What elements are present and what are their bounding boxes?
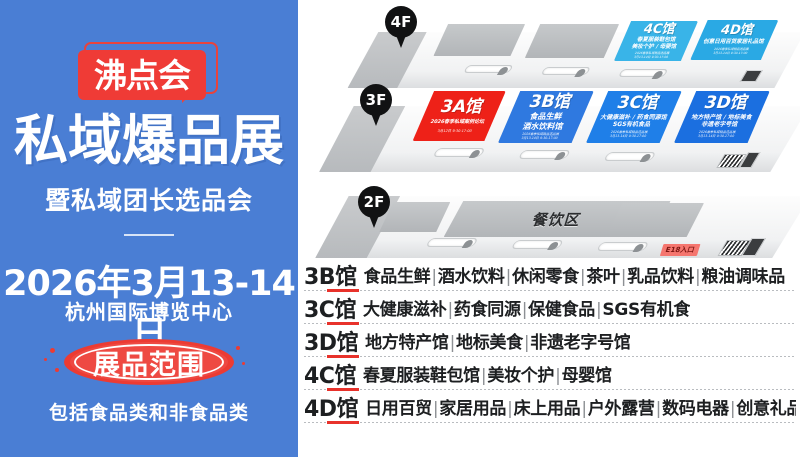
floor-3f-escalator-2	[518, 150, 571, 159]
hall-list-items: 食品生鲜|酒水饮料|休闲零食|茶叶|乳品饮料|粮油调味品	[364, 262, 785, 287]
hall-list-row[interactable]: 3D馆 地方特产馆|地标美食|非遗老字号馆	[304, 324, 796, 357]
speck-icon	[50, 348, 55, 353]
item-separator: |	[505, 267, 512, 287]
scope-badge: 展品范围	[64, 338, 234, 388]
hall-3d-code: 3D馆	[702, 95, 750, 113]
hall-list-item: 酒水饮料	[438, 267, 505, 287]
hall-4c-meta2: 3月13-14日 9:30-17:00	[633, 56, 668, 60]
entrance-badge: E18入口	[660, 244, 700, 256]
hall-3c-sub2: SGS有机食品	[612, 122, 652, 129]
hall-list-item: 母婴馆	[562, 366, 612, 386]
hall-list-item: 乳品饮料	[627, 267, 694, 287]
hall-list-item: 休闲零食	[512, 267, 579, 287]
hall-list-item: 粮油调味品	[701, 267, 785, 287]
hall-list-item: 户外露营	[588, 399, 655, 419]
hall-3c-meta2: 3月13-14日 9:30-17:00	[609, 135, 646, 139]
hall-list-items: 地方特产馆|地标美食|非遗老字号馆	[365, 328, 630, 353]
speck-icon	[242, 362, 245, 365]
dining-area-label: 餐饮区	[530, 209, 584, 230]
hall-list-item: 床上用品	[514, 399, 581, 419]
item-separator: |	[446, 300, 453, 320]
row-accent-mark	[327, 421, 359, 424]
speck-icon	[44, 358, 47, 361]
hall-list-items: 春夏服装鞋包馆|美妆个护|母婴馆	[363, 361, 612, 386]
hall-list-item: 食品生鲜	[364, 267, 431, 287]
event-venue: 杭州国际博览中心	[0, 296, 298, 325]
hall-list-items: 日用百贸|家居用品|床上用品|户外露营|数码电器|创意礼品	[365, 394, 796, 419]
floor-marker-3f-label: 3F	[360, 84, 392, 116]
right-content-panel: 4F 4C馆 春夏服装鞋包馆 美妆个护 / 母婴馆 2026春季私域精品选品展 …	[298, 0, 800, 457]
hall-list-items: 大健康滋补|药食同源|保健食品|SGS有机食	[363, 295, 690, 320]
title-divider	[124, 234, 174, 236]
hall-list-item: 家居用品	[439, 399, 506, 419]
page-subtitle: 暨私域团长选品会	[0, 181, 298, 217]
hall-list-row[interactable]: 4D馆 日用百贸|家居用品|床上用品|户外露营|数码电器|创意礼品	[304, 390, 796, 423]
floor-marker-3f: 3F	[360, 84, 392, 126]
floor-3f-escalator-1	[432, 148, 485, 157]
logo-badge: 沸点会	[78, 50, 206, 100]
hall-3b-meta2: 3月13-14日 9:30-17:00	[521, 137, 558, 141]
hall-list-row[interactable]: 3C馆 大健康滋补|药食同源|保健食品|SGS有机食	[304, 291, 796, 324]
speck-icon	[55, 368, 59, 372]
hall-list-row[interactable]: 3B馆 食品生鲜|酒水饮料|休闲零食|茶叶|乳品饮料|粮油调味品	[304, 258, 796, 291]
hall-list-code: 3C馆	[304, 292, 363, 324]
floor-4f-escalator-2	[540, 67, 591, 75]
hall-3d-sub2: 非遗老字号馆	[700, 122, 738, 129]
hall-list-item: 春夏服装鞋包馆	[363, 366, 480, 386]
hall-4d-meta2: 3月13-14日 9:30-17:00	[712, 52, 747, 56]
floor-3f-escalator-3	[603, 152, 656, 161]
hall-list-item: 地标美食	[456, 333, 523, 353]
hall-list-code: 3D馆	[304, 325, 365, 357]
hall-list-item: 日用百贸	[365, 399, 432, 419]
speck-icon	[236, 346, 240, 350]
hall-list-code: 4D馆	[304, 391, 365, 423]
hall-list-item: 美妆个护	[487, 366, 554, 386]
item-separator: |	[506, 399, 513, 419]
hall-3a-code: 3A馆	[438, 99, 485, 117]
floor-4f-block-a	[433, 24, 525, 56]
hall-list-code: 3B馆	[304, 259, 364, 291]
hall-3a-sub1: 2026春季私域案例论坛	[429, 120, 485, 126]
floor-marker-4f-label: 4F	[385, 6, 417, 38]
hall-3b-code: 3B馆	[527, 94, 574, 112]
hall-category-list: 3B馆 食品生鲜|酒水饮料|休闲零食|茶叶|乳品饮料|粮油调味品 3C馆 大健康…	[304, 258, 796, 423]
floor-2f-escalator-2	[511, 240, 564, 249]
page-title: 私域爆品展	[0, 114, 298, 168]
hall-list-item: 大健康滋补	[363, 300, 447, 320]
logo-text: 沸点会	[94, 59, 190, 92]
hall-4c-sub2: 美妆个护 / 母婴馆	[631, 44, 677, 50]
floor-2f-escalator-3	[596, 242, 649, 251]
hall-3c-code: 3C馆	[615, 95, 662, 113]
floor-marker-2f-label: 2F	[358, 186, 390, 218]
brand-logo: 沸点会	[78, 48, 218, 104]
hall-list-item: 茶叶	[586, 267, 619, 287]
hall-list-item: 数码电器	[662, 399, 729, 419]
hall-list-item: 创意礼品	[736, 399, 796, 419]
scope-note: 包括食品类和非食品类	[0, 398, 298, 425]
floor-marker-2f: 2F	[358, 186, 390, 228]
hall-list-item: 药食同源	[454, 300, 521, 320]
poster-root: 沸点会 私域爆品展 暨私域团长选品会 2026年3月13-14日 杭州国际博览中…	[0, 0, 800, 457]
hall-list-code: 4C馆	[304, 358, 363, 390]
hall-list-item: 非遗老字号馆	[530, 333, 630, 353]
hall-3b-sub2: 酒水饮料馆	[522, 122, 565, 131]
hall-list-item: SGS有机食	[602, 300, 690, 320]
floorplan-diagram: 4F 4C馆 春夏服装鞋包馆 美妆个护 / 母婴馆 2026春季私域精品选品展 …	[298, 0, 800, 262]
hall-list-item: 保健食品	[528, 300, 595, 320]
item-separator: |	[449, 333, 456, 353]
hall-list-item: 地方特产馆	[365, 333, 449, 353]
item-separator: |	[430, 267, 437, 287]
hall-3a-meta1: 3月12日 9:30-17:00	[437, 129, 472, 133]
floor-marker-4f: 4F	[385, 6, 417, 48]
item-separator: |	[655, 399, 662, 419]
row-divider	[304, 421, 796, 423]
floor-4f-escalator-1	[463, 65, 514, 73]
item-separator: |	[554, 366, 561, 386]
hall-4d-code: 4D馆	[718, 24, 755, 38]
hall-3d-meta2: 3月13-14日 9:30-17:00	[697, 135, 734, 139]
floor-2f-escalator-1	[425, 238, 478, 247]
floor-4f-escalator-3	[618, 69, 669, 77]
hall-list-row[interactable]: 4C馆 春夏服装鞋包馆|美妆个护|母婴馆	[304, 357, 796, 390]
left-info-panel: 沸点会 私域爆品展 暨私域团长选品会 2026年3月13-14日 杭州国际博览中…	[0, 0, 298, 457]
hall-4d-sub1: 创意日用百货家居礼品馆	[702, 39, 764, 45]
hall-4c-code: 4C馆	[642, 23, 678, 37]
floor-4f-block-b	[525, 24, 619, 58]
item-separator: |	[580, 399, 587, 419]
hall-3b-sub1: 食品生鲜	[528, 112, 563, 121]
scope-badge-label: 展品范围	[64, 338, 234, 386]
